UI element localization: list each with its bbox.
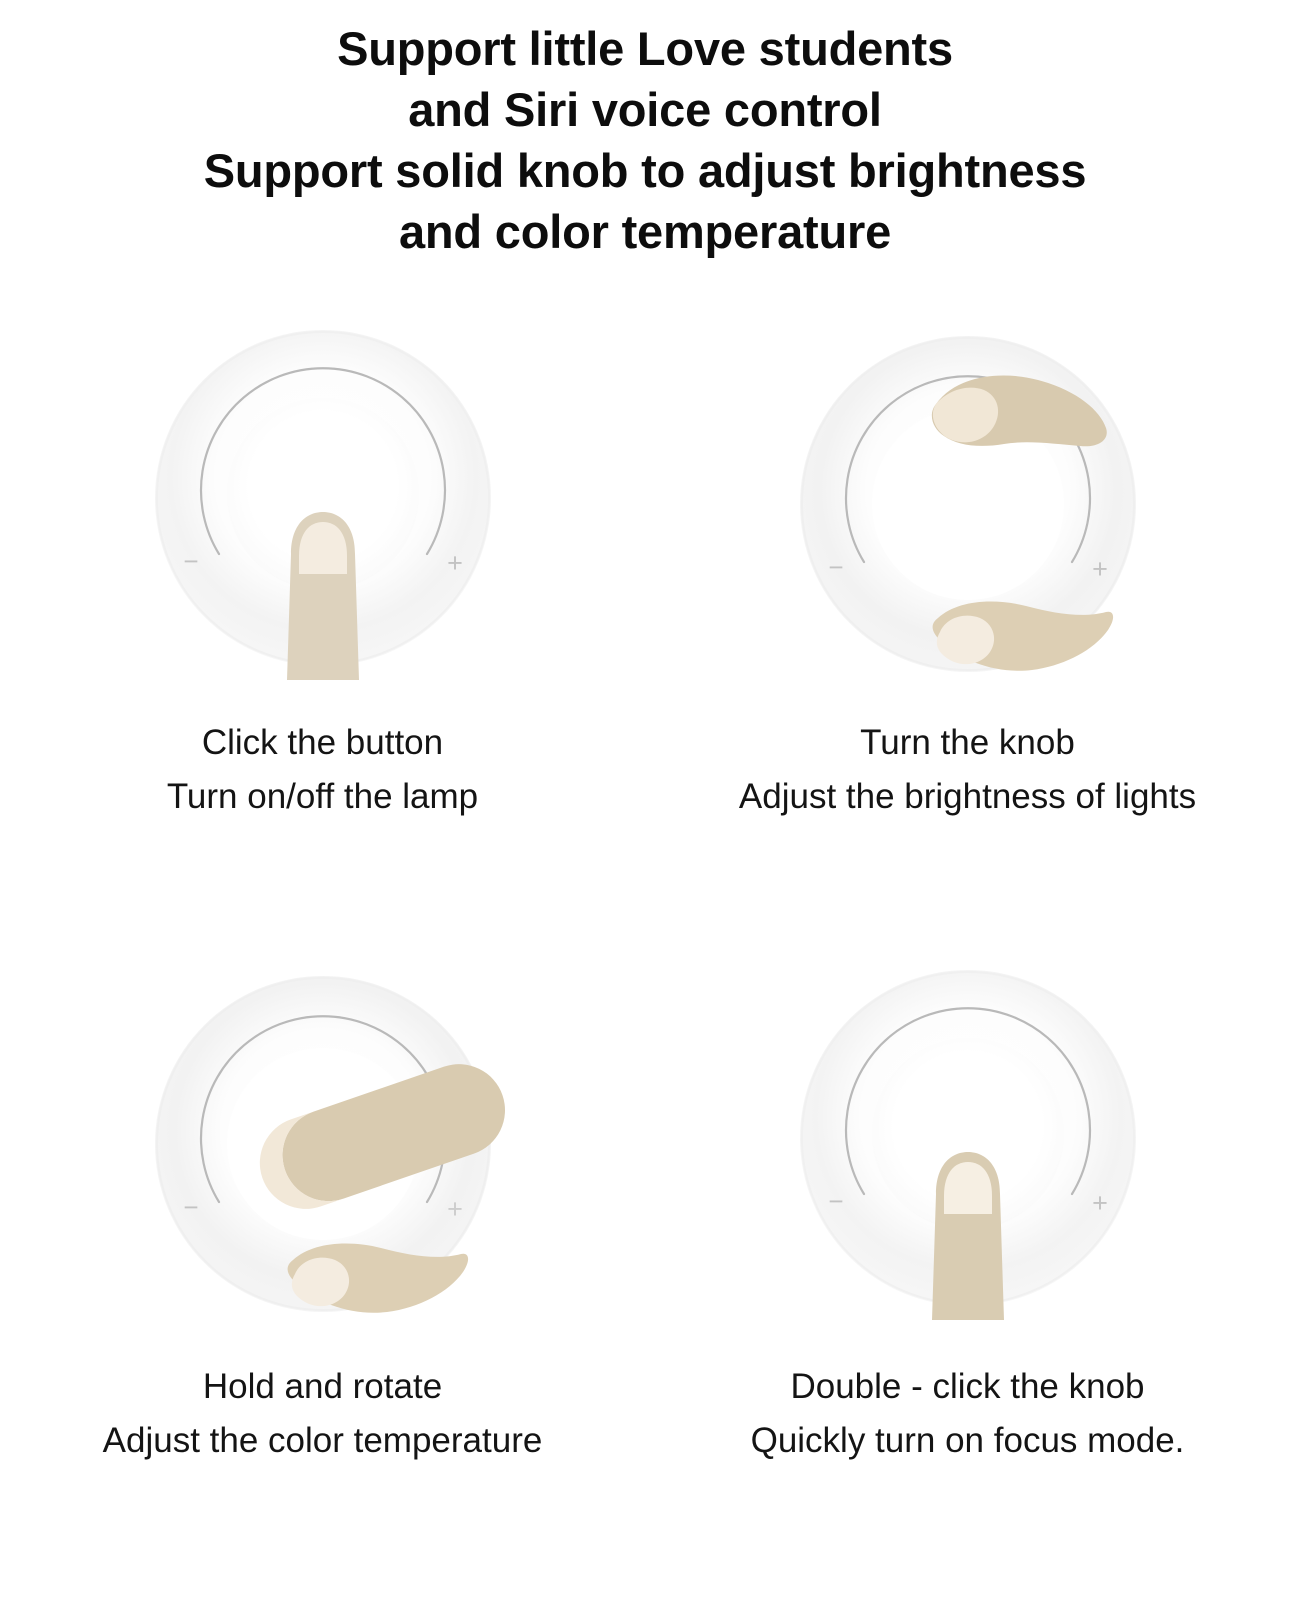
minus-marker: −: [828, 1186, 843, 1216]
minus-marker: −: [183, 546, 198, 576]
panel-captions: Turn the knob Adjust the brightness of l…: [739, 716, 1196, 822]
panel-title: Double - click the knob: [751, 1360, 1185, 1413]
knob-illustration-rotate: − +: [143, 958, 503, 1338]
heading-line-3: Support solid knob to adjust brightness: [0, 140, 1290, 201]
page-heading: Support little Love students and Siri vo…: [0, 0, 1290, 262]
plus-marker: +: [447, 548, 463, 578]
panel-title: Turn the knob: [739, 716, 1196, 769]
knob-illustration-turn: − +: [788, 318, 1148, 698]
heading-line-2: and Siri voice control: [0, 79, 1290, 140]
finger-shape: [932, 1152, 1004, 1320]
panel-title: Hold and rotate: [103, 1360, 543, 1413]
knob-illustration-click: − +: [143, 318, 503, 698]
thumb-rotate-icon: − +: [143, 958, 503, 1338]
finger-press-icon: − +: [143, 318, 503, 698]
panel-description: Quickly turn on focus mode.: [751, 1414, 1185, 1467]
minus-marker: −: [828, 552, 843, 582]
heading-line-1: Support little Love students: [0, 18, 1290, 79]
plus-marker: +: [1092, 554, 1108, 584]
panel-title: Click the button: [167, 716, 478, 769]
panel-double-click: − + Double - click the knob Quickly turn…: [645, 958, 1290, 1598]
panel-hold-rotate: − + Hold and rotate Adjust the color tem…: [0, 958, 645, 1598]
plus-marker: +: [1092, 1188, 1108, 1218]
two-finger-turn-icon: − +: [788, 318, 1148, 698]
heading-line-4: and color temperature: [0, 201, 1290, 262]
instruction-panels: − + Click the button Turn on/off the lam…: [0, 318, 1290, 1598]
minus-marker: −: [183, 1192, 198, 1222]
panel-description: Turn on/off the lamp: [167, 770, 478, 823]
panel-captions: Double - click the knob Quickly turn on …: [751, 1360, 1185, 1466]
panel-captions: Hold and rotate Adjust the color tempera…: [103, 1360, 543, 1466]
panel-captions: Click the button Turn on/off the lamp: [167, 716, 478, 822]
plus-marker: +: [447, 1194, 463, 1224]
panel-turn-knob: − + Turn the knob Adjust the brightness …: [645, 318, 1290, 958]
panel-click-button: − + Click the button Turn on/off the lam…: [0, 318, 645, 958]
finger-double-press-icon: − +: [788, 958, 1148, 1338]
panel-description: Adjust the color temperature: [103, 1414, 543, 1467]
knob-illustration-double-click: − +: [788, 958, 1148, 1338]
finger-shape: [287, 512, 359, 680]
panel-description: Adjust the brightness of lights: [739, 770, 1196, 823]
